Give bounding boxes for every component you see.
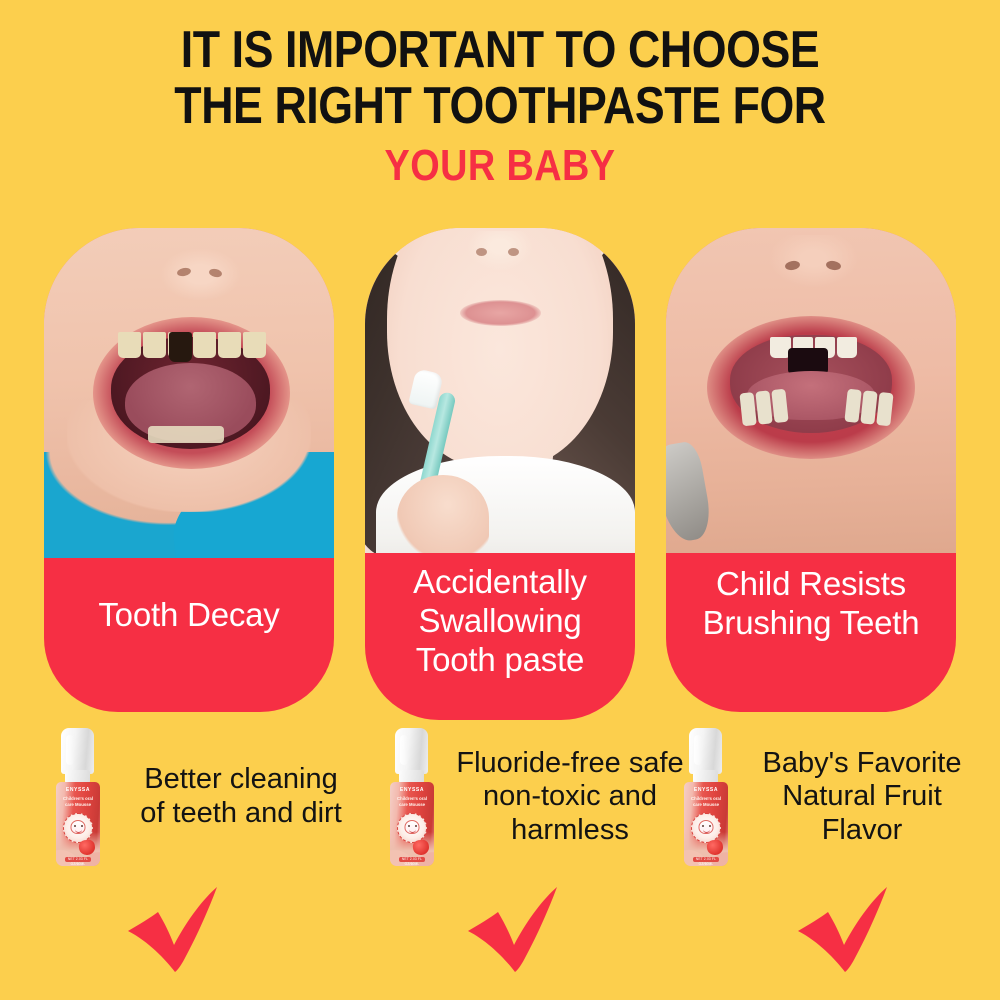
benefit-item-2[interactable]: ENYSSA Children's oral care Mousse NET 2…	[386, 722, 686, 872]
problem-card-swallowing[interactable]: Accidentally Swallowing Tooth paste	[365, 228, 635, 720]
card-caption: Accidentally Swallowing Tooth paste	[365, 553, 635, 720]
child-mouth-decay-photo	[44, 228, 334, 558]
benefit-text: Baby's Favorite Natural Fruit Flavor	[744, 747, 980, 848]
product-bottle-icon: ENYSSA Children's oral care Mousse NET 2…	[680, 728, 732, 866]
bottle-brand: ENYSSA	[684, 787, 728, 793]
card-caption: Child Resists Brushing Teeth	[666, 553, 956, 712]
child-toothbrush-photo	[365, 228, 635, 553]
bottle-volume: NET 2.03 FL OZ/60ML	[65, 857, 91, 866]
bottle-volume: NET 2.03 FL OZ/60ML	[693, 857, 719, 866]
checkmark-icon	[120, 884, 230, 974]
benefit-item-1[interactable]: ENYSSA Children's oral care Mousse NET 2…	[52, 722, 352, 872]
checkmark-icon	[460, 884, 570, 974]
page-title: IT IS IMPORTANT TO CHOOSE THE RIGHT TOOT…	[0, 22, 1000, 190]
problem-card-row: Tooth Decay Accidentally Swallowing Toot…	[44, 228, 956, 724]
benefit-text: Fluoride-free safe non-toxic and harmles…	[454, 747, 686, 848]
headline-line-1: IT IS IMPORTANT TO CHOOSE	[70, 22, 930, 78]
problem-card-tooth-decay[interactable]: Tooth Decay	[44, 228, 334, 712]
product-bottle-icon: ENYSSA Children's oral care Mousse NET 2…	[386, 728, 438, 866]
benefit-item-3[interactable]: ENYSSA Children's oral care Mousse NET 2…	[680, 722, 980, 872]
checkmark-icon	[790, 884, 900, 974]
promo-poster: IT IS IMPORTANT TO CHOOSE THE RIGHT TOOT…	[0, 0, 1000, 1000]
headline-line-3-accent: YOUR BABY	[70, 142, 930, 190]
child-mouth-open-photo	[666, 228, 956, 553]
benefit-text: Better cleaning of teeth and dirt	[130, 763, 352, 830]
bottle-brand: ENYSSA	[390, 787, 434, 793]
benefit-row: ENYSSA Children's oral care Mousse NET 2…	[0, 722, 1000, 882]
bottle-subtitle: Children's oral care Mousse	[56, 796, 100, 808]
headline-line-2: THE RIGHT TOOTHPASTE FOR	[70, 78, 930, 134]
bottle-subtitle: Children's oral care Mousse	[390, 796, 434, 808]
bottle-volume: NET 2.03 FL OZ/60ML	[399, 857, 425, 866]
bottle-subtitle: Children's oral care Mousse	[684, 796, 728, 808]
bottle-brand: ENYSSA	[56, 787, 100, 793]
checkmark-row	[0, 884, 1000, 980]
product-bottle-icon: ENYSSA Children's oral care Mousse NET 2…	[52, 728, 104, 866]
problem-card-resists-brushing[interactable]: Child Resists Brushing Teeth	[666, 228, 956, 712]
card-caption: Tooth Decay	[44, 558, 334, 712]
